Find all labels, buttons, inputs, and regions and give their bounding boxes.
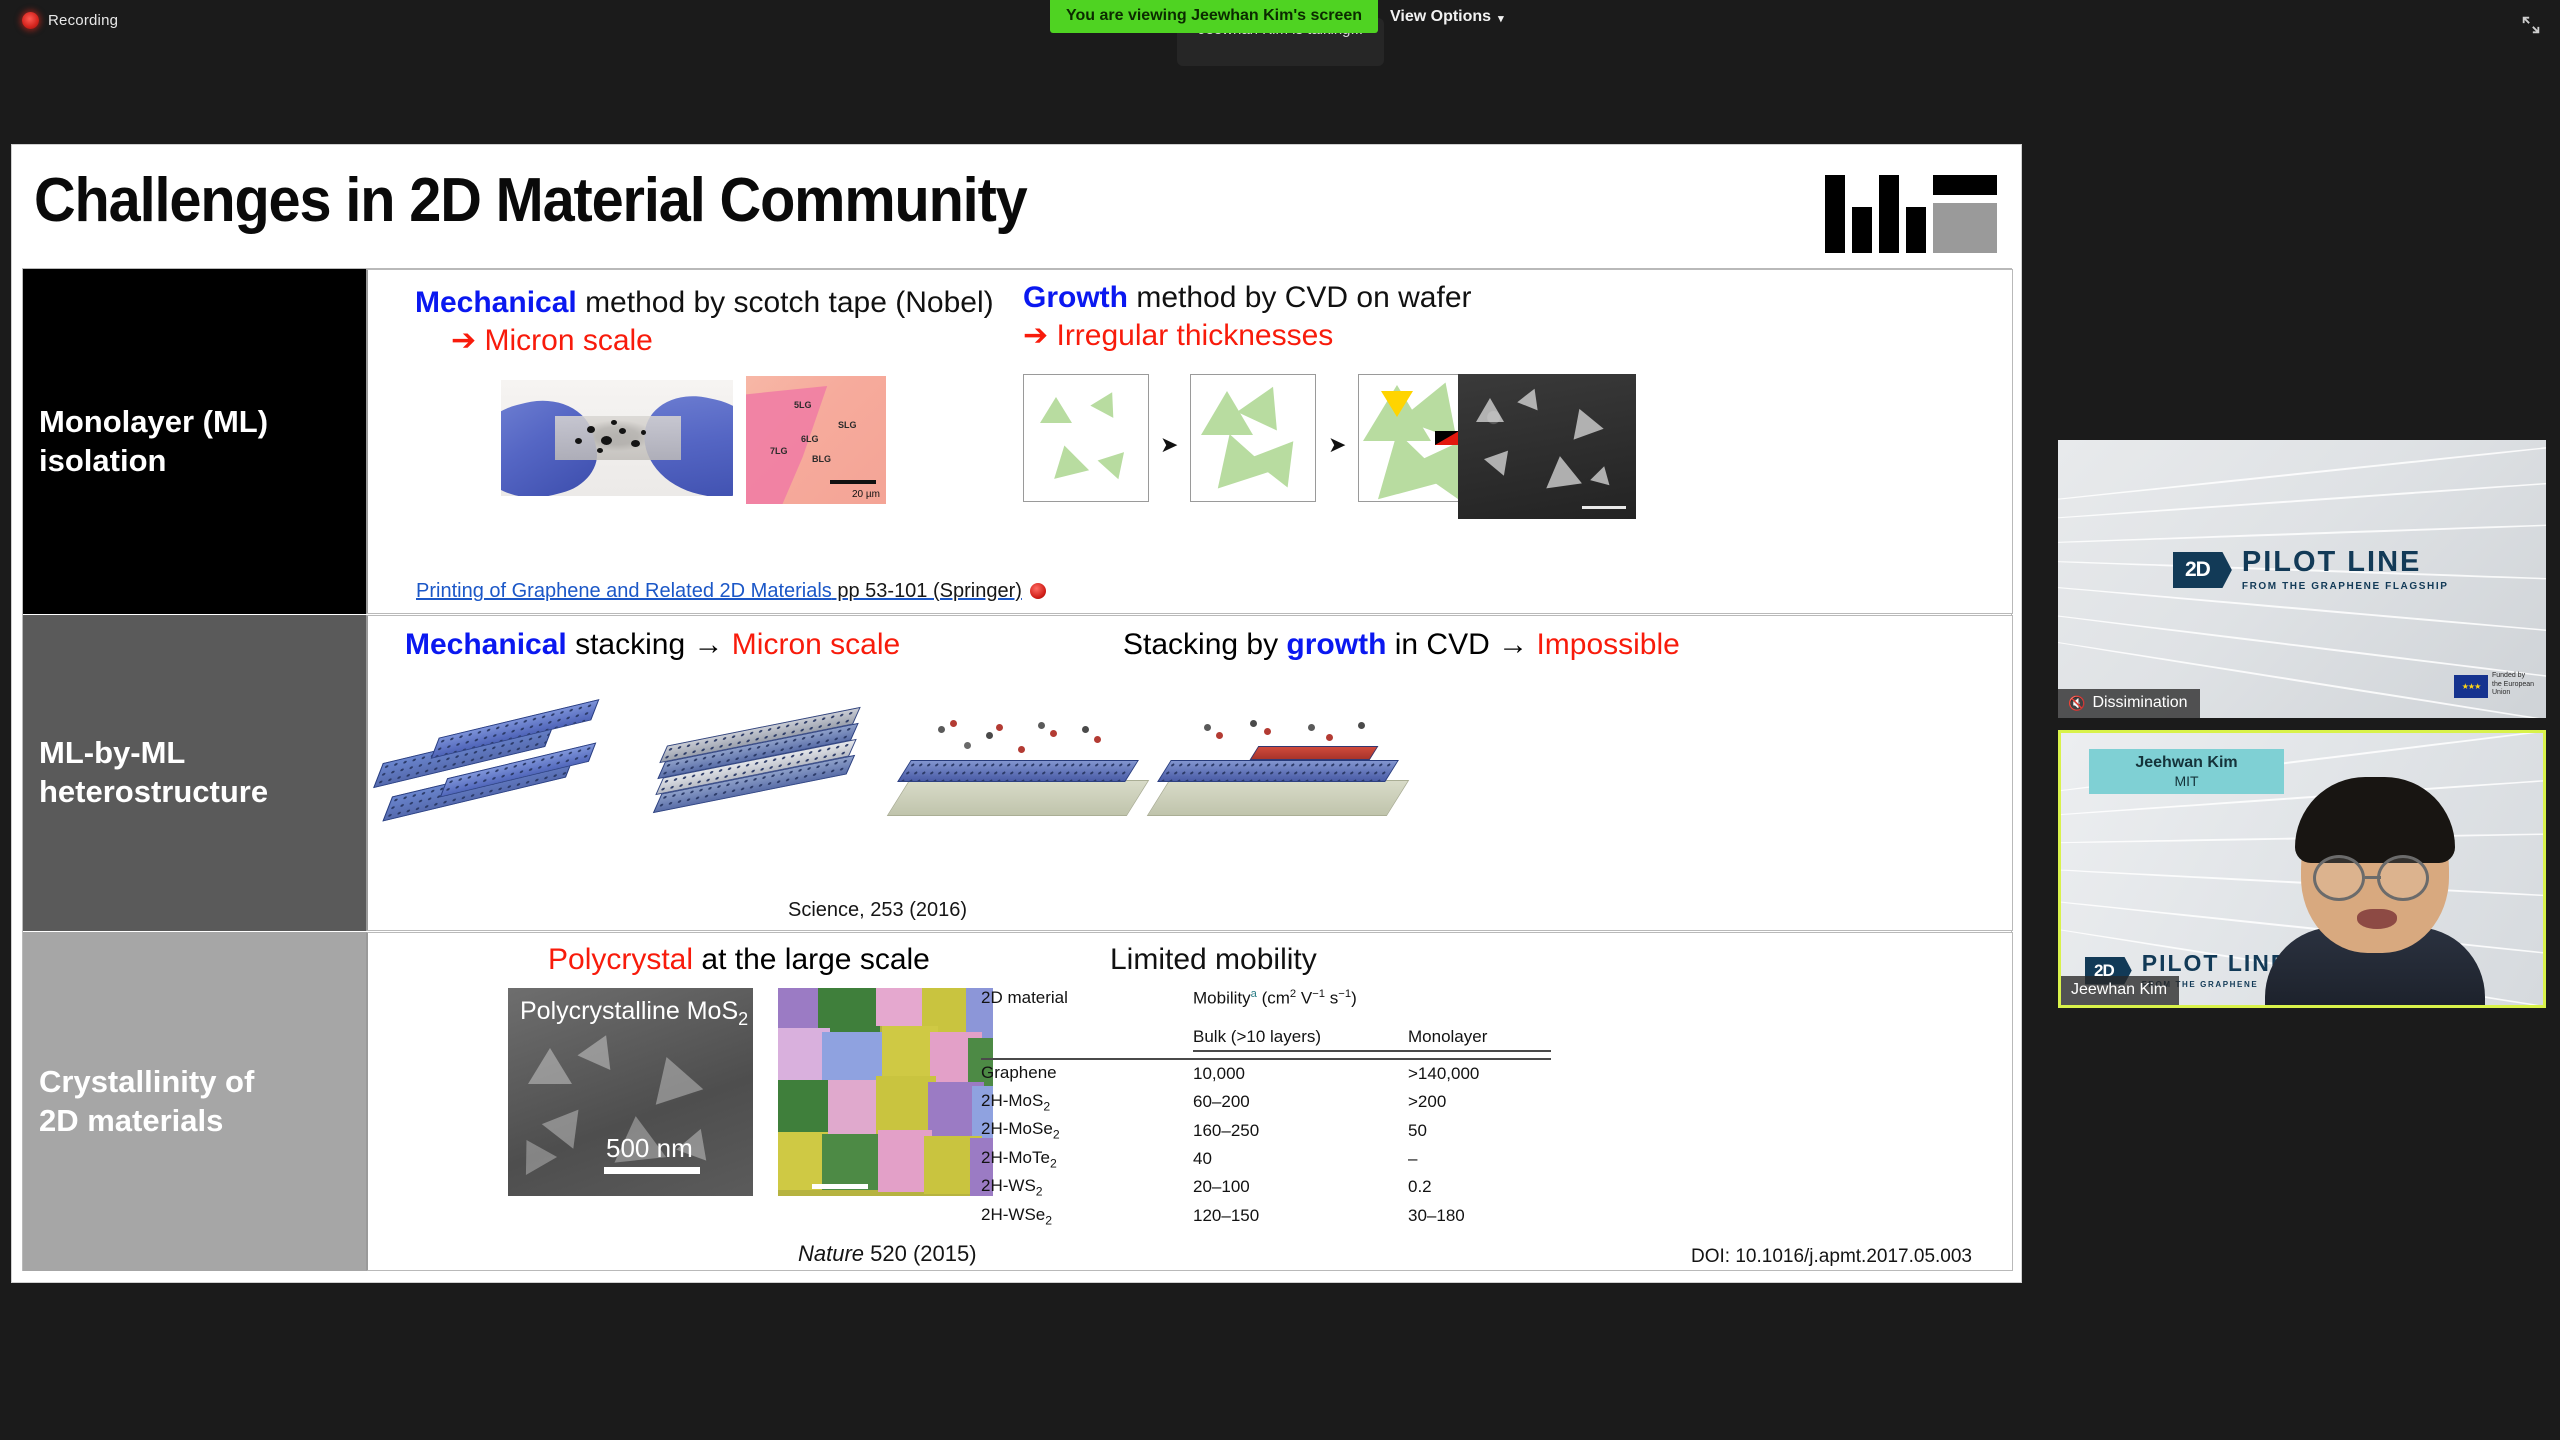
row1-body: Mechanical method by scotch tape (Nobel)…	[366, 269, 2013, 614]
cvd-arrow-2-icon: ➤	[1328, 432, 1346, 458]
table-row: 2H-WSe2 120–150 30–180	[981, 1202, 1551, 1230]
zoom-top-bar: Recording Jeewhan Kim is talking... You …	[0, 0, 2560, 48]
view-options-button[interactable]: View Options ▾	[1380, 4, 1514, 30]
row-monolayer: >200	[1408, 1088, 1551, 1116]
sem-scale-label: 500 nm	[606, 1133, 693, 1164]
row-material-sub: 2	[1036, 1185, 1043, 1199]
mobility-table-wrap: 2D material Mobilitya (cm2 V−1 s−1) Bulk…	[981, 985, 1551, 1230]
pink-label-1: SLG	[838, 420, 857, 430]
row2-right-headline: Stacking by growth in CVD → Impossible	[1123, 628, 1680, 662]
participant-video-column: 2D PILOT LINE FROM THE GRAPHENE FLAGSHIP…	[2058, 440, 2546, 1008]
row-material: 2H-WS	[981, 1176, 1036, 1195]
video-tile-dissimination[interactable]: 2D PILOT LINE FROM THE GRAPHENE FLAGSHIP…	[2058, 440, 2546, 718]
row1-left-sub: ➔ Micron scale	[451, 323, 653, 358]
eu-flag-icon: ★★★	[2454, 675, 2488, 698]
defect-marker-red-icon	[1435, 431, 1459, 445]
slide-title: Challenges in 2D Material Community	[34, 165, 1027, 236]
mobility-col-mobility: Mobilitya (cm2 V−1 s−1)	[1193, 985, 1551, 1019]
row-material: Graphene	[981, 1063, 1057, 1082]
mobility-units-1: (cm	[1257, 989, 1290, 1008]
row-label-heterostructure: ML-by-ML heterostructure	[23, 615, 366, 931]
mobility-col-monolayer: Monolayer	[1408, 1019, 1551, 1051]
row3-citation: Nature 520 (2015)	[798, 1241, 977, 1267]
row2-right-red: Impossible	[1536, 628, 1679, 661]
row2-body: Mechanical stacking → Micron scale Stack…	[366, 615, 2013, 931]
row1-left-headline: Mechanical method by scotch tape (Nobel)	[415, 286, 994, 320]
polycrystalline-sem-photo: Polycrystalline MoS2 500 nm	[508, 988, 753, 1196]
table-row: 2H-WS2 20–100 0.2	[981, 1173, 1551, 1201]
pink-label-3: 7LG	[770, 446, 788, 456]
mobility-table-rule-row	[981, 1051, 1551, 1059]
mobility-table-header-sub: Bulk (>10 layers) Monolayer	[981, 1019, 1551, 1051]
row-material-sub: 2	[1045, 1213, 1052, 1227]
heterostructure-illustration-b	[658, 708, 858, 823]
participant-name-label: Jeewhan Kim	[2071, 981, 2167, 999]
row1-left-arrow-icon: ➔	[451, 324, 484, 357]
sem-overlay-label-text: Polycrystalline MoS	[520, 997, 738, 1025]
screen-share-banner: You are viewing Jeewhan Kim's screen	[1050, 0, 1378, 33]
pilot-line-badge: 2D	[2173, 552, 2232, 588]
row1-reference[interactable]: Printing of Graphene and Related 2D Mate…	[416, 580, 1046, 603]
shared-slide: Challenges in 2D Material Community Mono…	[11, 144, 2022, 1283]
row3-doi: DOI: 10.1016/j.apmt.2017.05.003	[1691, 1246, 1972, 1268]
row-label-monolayer-isolation: Monolayer (ML) isolation	[23, 269, 366, 614]
row2-right-pre: Stacking by	[1123, 628, 1286, 661]
row2-left-mid: stacking →	[567, 628, 732, 661]
cvd-arrow-1-icon: ➤	[1160, 432, 1178, 458]
table-row: Graphene 10,000 >140,000	[981, 1059, 1551, 1088]
row-bulk: 40	[1193, 1145, 1408, 1173]
pink-scale-label: 20 µm	[852, 489, 880, 500]
cvd-growth-illustration-2	[1158, 716, 1408, 821]
pilot-line-logo-sub: FROM THE GRAPHENE FLAGSHIP	[2242, 581, 2449, 592]
row-material-sub: 2	[1053, 1128, 1060, 1142]
eu-funding-line2: the European Union	[2492, 681, 2538, 699]
row-material: 2H-MoTe	[981, 1148, 1050, 1167]
video-tile-jeewhan-kim[interactable]: Jeehwan Kim MIT 2D PILOT LINE FROM THE G…	[2058, 730, 2546, 1008]
row1-left-sub-text: Micron scale	[484, 324, 652, 357]
cvd-sem-photo	[1458, 374, 1636, 519]
defect-marker-yellow-icon	[1381, 391, 1413, 417]
pink-label-0: 5LG	[794, 400, 812, 410]
mobility-units-4: )	[1351, 989, 1357, 1008]
row3-left-headline: Polycrystal at the large scale	[548, 943, 930, 977]
pilot-line-logo: 2D PILOT LINE FROM THE GRAPHENE FLAGSHIP	[2173, 548, 2448, 592]
row1-right-sub-text: Irregular thicknesses	[1056, 319, 1333, 352]
expand-icon[interactable]	[2520, 14, 2542, 36]
row1-right-headline-strong: Growth	[1023, 281, 1128, 314]
screen-share-banner-label: You are viewing Jeewhan Kim's screen	[1066, 7, 1362, 24]
mobility-table: 2D material Mobilitya (cm2 V−1 s−1) Bulk…	[981, 985, 1551, 1230]
row-bulk: 20–100	[1193, 1173, 1408, 1201]
row2-left-strong: Mechanical	[405, 628, 567, 661]
row1-right-headline-rest: method by CVD on wafer	[1128, 281, 1472, 314]
row1-right-sub: ➔ Irregular thicknesses	[1023, 318, 1333, 353]
eu-funding-text: Funded by the European Union	[2492, 672, 2538, 698]
row3-left-headline-red: Polycrystal	[548, 943, 693, 976]
pink-label-2: 6LG	[801, 434, 819, 444]
mit-logo	[1825, 165, 2001, 253]
slide-grid: Monolayer (ML) isolation Mechanical meth…	[22, 268, 2012, 1271]
recording-indicator[interactable]: Recording	[22, 12, 118, 29]
mobility-units-3: s	[1325, 989, 1338, 1008]
table-row: 2H-MoS2 60–200 >200	[981, 1088, 1551, 1116]
graphene-optical-micrograph: 5LG SLG 6LG 7LG BLG 20 µm	[746, 376, 886, 504]
cvd-panel-1	[1023, 374, 1149, 502]
participant-name-chip-kim: Jeewhan Kim	[2061, 976, 2179, 1005]
mobility-units-sup3: −1	[1338, 988, 1351, 1000]
row-monolayer: 0.2	[1408, 1173, 1551, 1201]
mobility-units-2: V	[1296, 989, 1312, 1008]
row-bulk: 60–200	[1193, 1088, 1408, 1116]
cvd-panel-2	[1190, 374, 1316, 502]
row-bulk: 120–150	[1193, 1202, 1408, 1230]
row1-label-line2: isolation	[39, 442, 268, 481]
row1-reference-link-text[interactable]: Printing of Graphene and Related 2D Mate…	[416, 580, 832, 602]
row-material: 2H-MoSe	[981, 1119, 1053, 1138]
view-options-label: View Options	[1390, 8, 1491, 26]
row-bulk: 160–250	[1193, 1116, 1408, 1144]
chevron-down-icon: ▾	[1498, 12, 1504, 25]
row1-label-line1: Monolayer (ML)	[39, 403, 268, 442]
speaker-name-overlay: Jeehwan Kim MIT	[2089, 749, 2284, 794]
table-row: 2H-MoSe2 160–250 50	[981, 1116, 1551, 1144]
sem-overlay-label: Polycrystalline MoS2	[520, 997, 748, 1030]
row-monolayer: >140,000	[1408, 1059, 1551, 1088]
row-label-crystallinity: Crystallinity of 2D materials	[23, 932, 366, 1271]
row1-left-headline-rest: method by scotch tape (Nobel)	[577, 286, 994, 319]
row-material-sub: 2	[1043, 1099, 1050, 1113]
row3-right-headline: Limited mobility	[1110, 943, 1317, 977]
sem-scale-bar	[604, 1167, 700, 1174]
row-material-sub: 2	[1050, 1156, 1057, 1170]
speaker-avatar-video	[2265, 790, 2485, 1005]
grain-orientation-map	[778, 988, 993, 1196]
row-material: 2H-MoS	[981, 1091, 1043, 1110]
row2-right-mid: in CVD →	[1386, 628, 1536, 661]
speaker-overlay-name: Jeehwan Kim	[2089, 754, 2284, 772]
row2-left-red: Micron scale	[732, 628, 900, 661]
mobility-col-material: 2D material	[981, 985, 1193, 1019]
scotch-tape-photo	[501, 380, 733, 496]
row2-label-line1: ML-by-ML	[39, 734, 268, 773]
row-monolayer: 50	[1408, 1116, 1551, 1144]
row3-label-line2: 2D materials	[39, 1102, 254, 1141]
mobility-table-header-top: 2D material Mobilitya (cm2 V−1 s−1)	[981, 985, 1551, 1019]
sem-overlay-label-sub: 2	[738, 1009, 748, 1029]
pink-label-4: BLG	[812, 454, 831, 464]
row1-right-headline: Growth method by CVD on wafer	[1023, 281, 1472, 315]
row-ml-by-ml-heterostructure: ML-by-ML heterostructure Mechanical stac…	[23, 615, 2013, 931]
row3-citation-rest: 520 (2015)	[864, 1241, 977, 1266]
reference-badge-icon	[1030, 583, 1046, 599]
pilot-line-logo-text: PILOT LINE	[2242, 546, 2422, 578]
row-bulk: 10,000	[1193, 1059, 1408, 1088]
row3-citation-journal: Nature	[798, 1241, 864, 1266]
heterostructure-illustration-a	[383, 708, 623, 818]
row2-label-line2: heterostructure	[39, 773, 268, 812]
participant-name-chip-dissimination: 🔇 Dissimination	[2058, 689, 2200, 718]
row3-label-line1: Crystallinity of	[39, 1063, 254, 1102]
row-material: 2H-WSe	[981, 1205, 1045, 1224]
recording-label: Recording	[48, 12, 118, 29]
mobility-units-sup2: −1	[1312, 988, 1325, 1000]
mobility-col-mobility-text: Mobility	[1193, 989, 1251, 1008]
row3-left-headline-rest: at the large scale	[693, 943, 930, 976]
recording-dot-icon	[22, 12, 39, 29]
row-crystallinity: Crystallinity of 2D materials Polycrysta…	[23, 932, 2013, 1271]
row-monolayer-isolation: Monolayer (ML) isolation Mechanical meth…	[23, 269, 2013, 614]
speaker-overlay-org: MIT	[2089, 772, 2284, 791]
row1-reference-rest: pp 53-101 (Springer)	[832, 580, 1022, 602]
row2-citation: Science, 253 (2016)	[788, 899, 967, 922]
participant-name-label: Dissimination	[2092, 694, 2187, 712]
row3-body: Polycrystal at the large scale Limited m…	[366, 932, 2013, 1271]
row1-left-headline-strong: Mechanical	[415, 286, 577, 319]
row1-right-arrow-icon: ➔	[1023, 319, 1056, 352]
row2-right-strong: growth	[1286, 628, 1386, 661]
row-monolayer: –	[1408, 1145, 1551, 1173]
table-row: 2H-MoTe2 40 –	[981, 1145, 1551, 1173]
eu-funding-line1: Funded by	[2492, 672, 2538, 681]
muted-mic-icon: 🔇	[2068, 695, 2085, 712]
cvd-growth-illustration-1	[898, 716, 1148, 821]
row-monolayer: 30–180	[1408, 1202, 1551, 1230]
row2-left-headline: Mechanical stacking → Micron scale	[405, 628, 900, 662]
mobility-col-bulk: Bulk (>10 layers)	[1193, 1019, 1408, 1051]
